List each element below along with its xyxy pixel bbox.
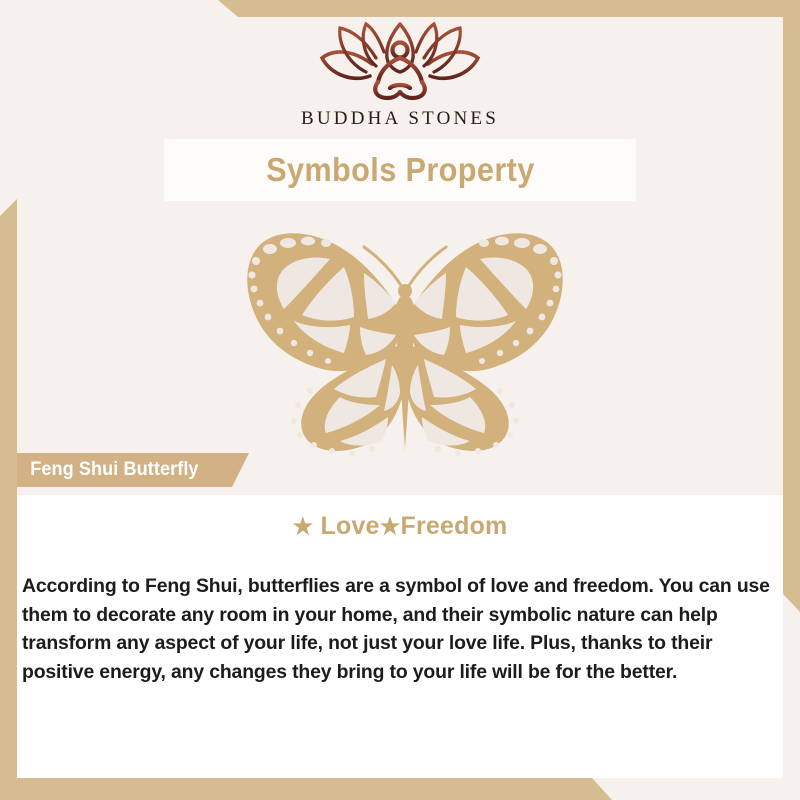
page-title: Symbols Property (266, 151, 535, 189)
headline-word-freedom: Freedom (400, 512, 507, 540)
content-paragraph: According to Feng Shui, butterflies are … (22, 572, 780, 686)
feng-shui-butterfly-label: Feng Shui Butterfly (17, 453, 249, 487)
title-banner: Symbols Property (164, 139, 636, 201)
brand-name: BUDDHA STONES (301, 108, 499, 130)
lotus-meditation-figure-icon (310, 18, 490, 106)
brand-logo: BUDDHA STONES (0, 18, 800, 140)
gold-border-top (0, 0, 800, 17)
content-headline: ★ Love★Freedom (17, 512, 783, 541)
feng-shui-butterfly-label-text: Feng Shui Butterfly (17, 459, 199, 481)
gold-border-left (0, 199, 17, 800)
monarch-butterfly-icon (210, 225, 600, 460)
gold-border-bottom (0, 778, 800, 800)
star-icon-left: ★ (293, 513, 314, 539)
butterfly-illustration (210, 225, 600, 460)
promo-graphic-page: BUDDHA STONES Symbols Property (0, 0, 800, 800)
headline-word-love: Love (321, 512, 380, 540)
star-icon-mid: ★ (380, 513, 401, 539)
